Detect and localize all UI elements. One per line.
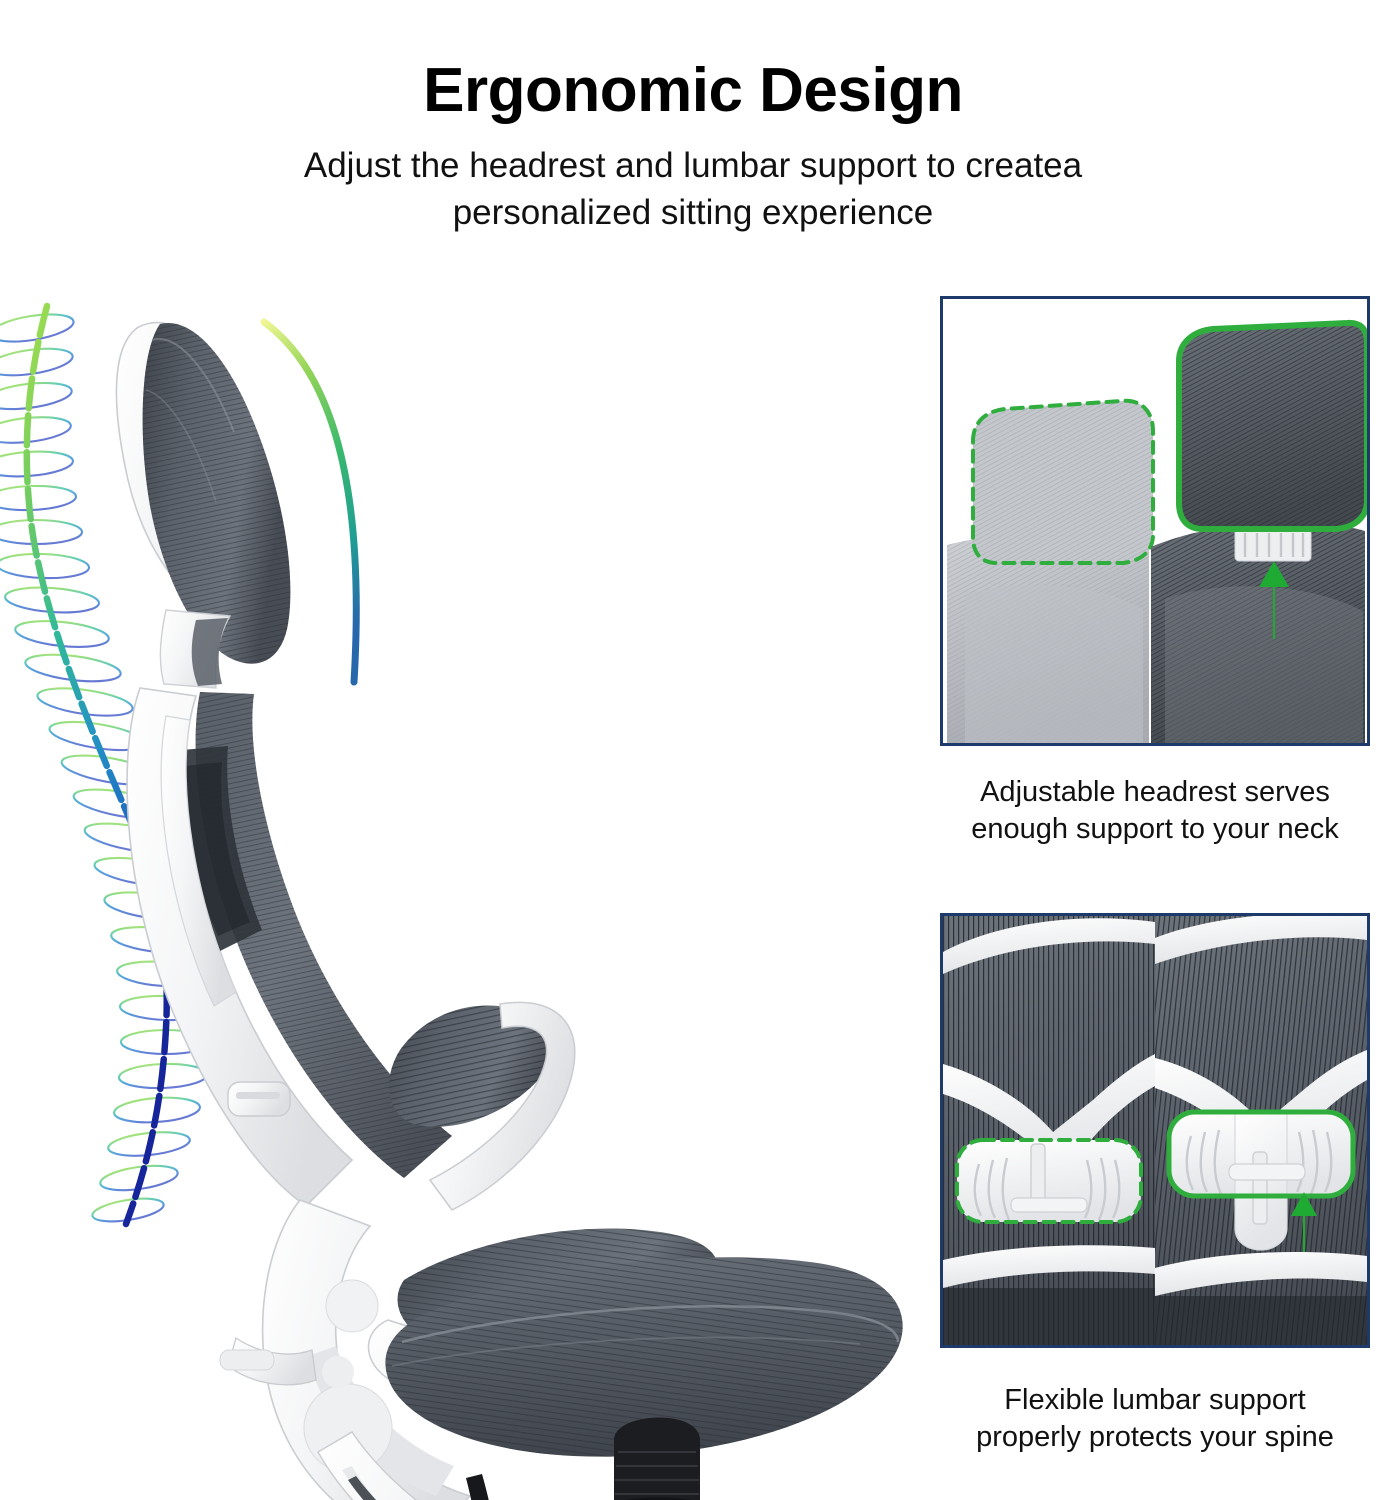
lumbar-caption-line-2: properly protects your spine [934, 1419, 1376, 1456]
lumbar-caption: Flexible lumbar support properly protect… [934, 1382, 1376, 1456]
headrest-ratchet-stem [1235, 529, 1311, 561]
headrest-caption-line-2: enough support to your neck [934, 811, 1376, 848]
lumbar-pad-lowered [957, 1140, 1141, 1222]
flexible-lumbar-support-panel [940, 913, 1370, 1348]
office-chair-side-view [0, 280, 930, 1500]
page-subtitle: Adjust the headrest and lumbar support t… [193, 123, 1193, 236]
lumbar-after-raised [1155, 916, 1367, 1345]
adjustable-headrest-panel [940, 296, 1370, 746]
feature-panels-column: Adjustable headrest serves enough suppor… [940, 296, 1378, 1500]
height-adjustment-lever[interactable] [466, 1474, 512, 1500]
lumbar-adjust-knob[interactable] [228, 1082, 290, 1116]
mesh-backrest [127, 688, 452, 1206]
page-title: Ergonomic Design [0, 0, 1386, 123]
header: Ergonomic Design Adjust the headrest and… [0, 0, 1386, 236]
subtitle-line-1: Adjust the headrest and lumbar support t… [304, 146, 1082, 185]
lumbar-caption-line-1: Flexible lumbar support [934, 1382, 1376, 1419]
lumbar-comparison-figure [943, 916, 1367, 1345]
headrest-comparison-figure [943, 299, 1367, 743]
headrest-caption: Adjustable headrest serves enough suppor… [934, 774, 1376, 848]
main-product-illustration [0, 280, 930, 1500]
adjustable-headrest [116, 323, 290, 664]
headrest-caption-line-1: Adjustable headrest serves [934, 774, 1376, 811]
subtitle-line-2: personalized sitting experience [453, 193, 934, 232]
lumbar-before-lowered [943, 916, 1155, 1345]
headrest-before-lowered [947, 401, 1153, 743]
